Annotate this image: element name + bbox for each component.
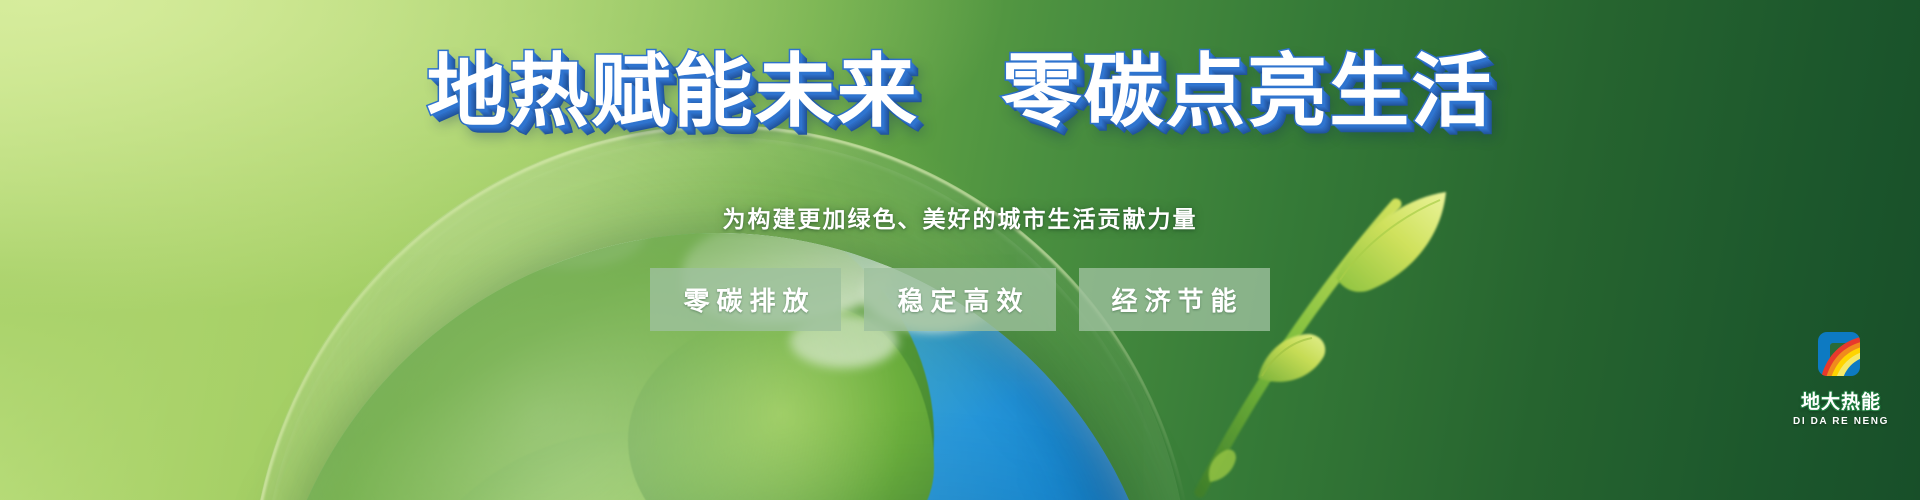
headline-part-2: 零碳点亮生活 [1001,47,1493,136]
globe-cloud [484,233,646,269]
banner-subtitle: 为构建更加绿色、美好的城市生活贡献力量 [0,200,1920,234]
logo-text-en: DI DA RE NENG [1793,416,1889,427]
rounded-square-rainbow-swoosh-icon [1813,330,1869,382]
globe-landmass [394,431,898,500]
feature-tag-list: 零碳排放 稳定高效 经济节能 [0,268,1920,331]
feature-tag-economical[interactable]: 经济节能 [1079,268,1270,331]
headline-part-1: 地热赋能未来 [427,47,919,136]
banner-headline: 地热赋能未来 零碳点亮生活 [0,52,1920,132]
hero-banner: 地热赋能未来 零碳点亮生活 为构建更加绿色、美好的城市生活贡献力量 零碳排放 稳… [0,0,1920,500]
logo-text-cn: 地大热能 [1801,387,1881,414]
feature-tag-stable-efficient[interactable]: 稳定高效 [864,268,1055,331]
globe-landmass [628,305,934,500]
feature-tag-zero-carbon[interactable]: 零碳排放 [650,268,841,331]
brand-logo[interactable]: 地大热能 DI DA RE NENG [1782,330,1900,480]
